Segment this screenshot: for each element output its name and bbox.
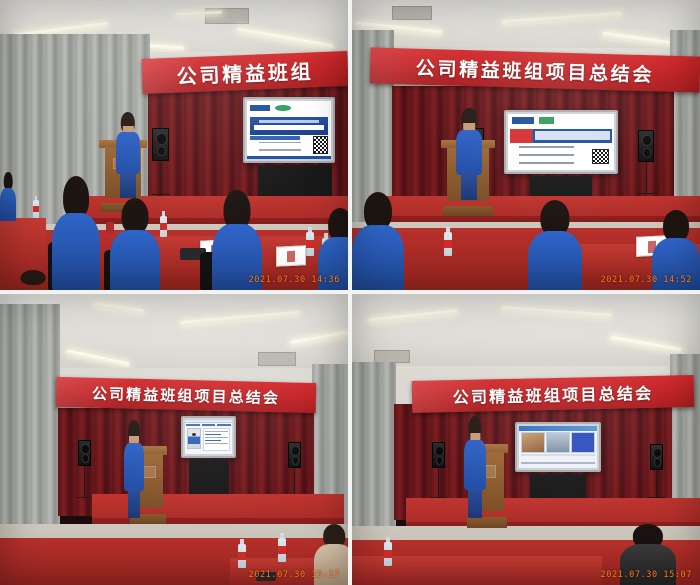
slide-title-line	[535, 131, 610, 139]
presenter-head	[128, 420, 140, 445]
slide-panel-grid	[521, 432, 596, 453]
banner-text: 公司精益班组项目总结会	[416, 53, 655, 87]
slide-table-rows	[521, 454, 596, 467]
presenter-legs	[468, 488, 482, 518]
slide-photo	[187, 428, 201, 449]
slide-title-band	[250, 117, 329, 134]
slide-chart	[571, 432, 595, 453]
presenter-uniform	[456, 130, 482, 175]
screen-content	[508, 114, 614, 170]
secondary-logo-icon	[539, 117, 555, 124]
screen-cabinet	[189, 459, 229, 495]
company-logo-icon	[250, 105, 270, 111]
ceiling	[352, 294, 700, 375]
photo-timestamp: 2021.07.30 15:07	[601, 570, 692, 580]
presenter	[464, 416, 486, 516]
slide-document	[203, 428, 230, 450]
ceiling-vent-icon	[258, 352, 296, 366]
speaker-stand	[646, 162, 647, 194]
slide-subtitle-line	[259, 120, 319, 123]
loudspeaker-left	[78, 440, 91, 466]
presenter	[124, 420, 144, 516]
collage-panel-top-right: 公司精益班组项目总结会	[352, 0, 700, 290]
company-logo-icon	[512, 117, 533, 124]
presenter-legs	[461, 173, 478, 200]
screen-content	[247, 101, 331, 159]
slide-footer-bar	[247, 156, 331, 159]
presenter-uniform	[124, 443, 144, 491]
presenter	[116, 112, 140, 196]
banner-text: 公司精益班组项目总结会	[92, 382, 281, 408]
speaker-stand	[84, 466, 85, 498]
ceiling-vent-icon	[392, 6, 432, 20]
slide-title-band	[510, 129, 612, 144]
presentation-slide	[247, 101, 331, 159]
loudspeaker-left	[432, 442, 445, 468]
attendee	[52, 176, 100, 288]
attendee-side	[0, 172, 16, 220]
slide-accent-bar	[250, 136, 300, 140]
slide-title-line	[254, 125, 323, 130]
water-bottle	[238, 544, 246, 568]
collage-panel-bottom-left: 公司精益班组项目总结会	[0, 294, 348, 585]
water-bottle	[160, 216, 167, 237]
presenter-head	[461, 108, 477, 131]
loudspeaker-right	[288, 442, 301, 468]
collage-divider-horizontal	[0, 290, 700, 294]
presenter-uniform	[464, 440, 486, 490]
speaker-stand	[656, 470, 657, 498]
projection-screen	[504, 110, 618, 174]
collage-panel-bottom-right: 公司精益班组项目总结会	[352, 294, 700, 585]
slide-logos	[250, 104, 327, 113]
event-banner: 公司精益班组项目总结会	[412, 375, 695, 413]
water-bottle	[444, 232, 452, 256]
projection-screen	[515, 422, 601, 472]
podium-base	[443, 206, 494, 216]
presenter-head	[121, 112, 135, 134]
water-bottle	[306, 232, 314, 256]
event-banner: 公司精益班组项目总结会	[56, 377, 317, 413]
collage-panel-top-left: 公司精益班组	[0, 0, 348, 290]
presenter-legs	[120, 172, 135, 197]
slide-header-bar	[185, 420, 232, 423]
photo-timestamp: 2021.07.30 15:17	[249, 570, 340, 580]
photo-collage: 公司精益班组	[0, 0, 700, 585]
slide-body-lines	[519, 146, 574, 163]
loudspeaker-right	[650, 444, 663, 470]
slide-photo-1	[521, 432, 545, 453]
speaker-tripod	[638, 193, 655, 194]
slide-body-lines	[259, 142, 301, 155]
attendee	[528, 200, 582, 290]
attendee	[352, 192, 404, 290]
speaker-stand	[160, 161, 161, 195]
loudspeaker-right	[638, 130, 654, 162]
podium-base	[467, 517, 507, 528]
presentation-slide	[519, 426, 597, 468]
speaker-tripod	[152, 194, 170, 195]
secondary-logo-icon	[275, 105, 290, 111]
presenter-uniform	[116, 132, 140, 174]
speaker-tripod	[76, 497, 93, 498]
screen-content	[185, 420, 232, 454]
presentation-slide	[185, 420, 232, 454]
qr-code-icon	[313, 136, 327, 153]
water-bottle	[384, 542, 392, 566]
projection-screen	[243, 97, 335, 163]
presentation-slide	[508, 114, 614, 170]
speaker-stand	[438, 468, 439, 498]
presenter-head	[468, 416, 481, 442]
slide-photo-2	[546, 432, 570, 453]
presenter	[456, 108, 482, 198]
screen-content	[519, 426, 597, 468]
water-bottle	[33, 200, 39, 218]
loudspeaker	[152, 128, 169, 161]
photo-timestamp: 2021.07.30 14:52	[601, 275, 692, 285]
slide-header-bar	[519, 426, 597, 431]
attendee	[10, 270, 56, 290]
presenter-legs	[128, 489, 141, 518]
banner-text: 公司精益班组项目总结会	[452, 380, 653, 408]
qr-code-icon	[592, 149, 609, 165]
side-table	[0, 218, 46, 278]
attendee	[110, 198, 160, 290]
slide-tabs	[186, 424, 230, 427]
water-bottle	[278, 538, 286, 562]
projection-screen	[181, 416, 236, 458]
slide-logos	[512, 117, 610, 124]
name-card	[276, 245, 306, 267]
photo-timestamp: 2021.07.30 14:36	[249, 275, 340, 285]
banner-text: 公司精益班组	[176, 55, 314, 89]
